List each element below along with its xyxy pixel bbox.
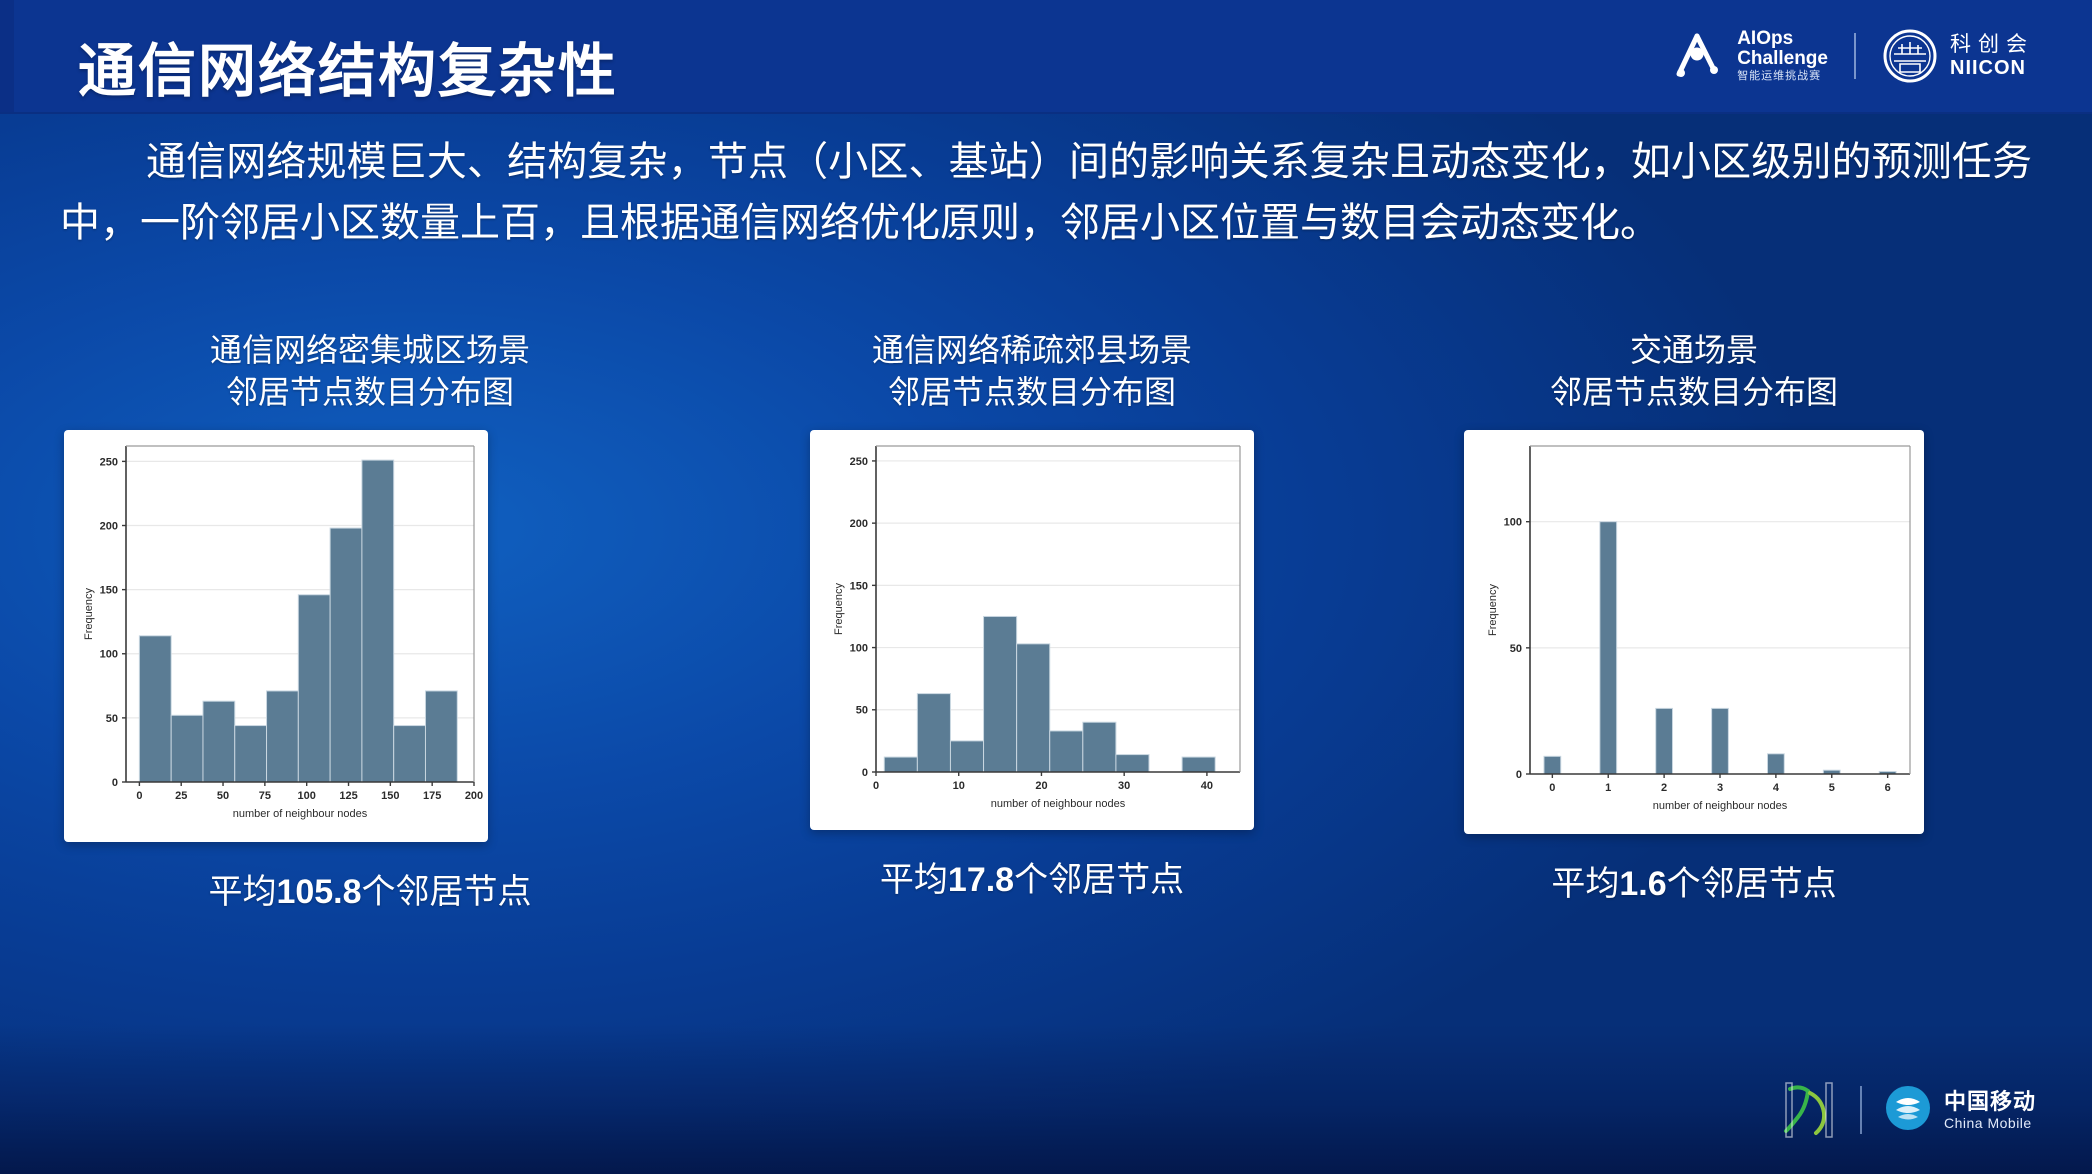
chart-panel-title: 通信网络密集城区场景 邻居节点数目分布图: [60, 330, 680, 418]
histogram-svg-3: 0501000123456number of neighbour nodesFr…: [1464, 430, 1924, 834]
svg-text:75: 75: [259, 790, 271, 802]
logo-divider: [1854, 33, 1856, 79]
header-accent-bar: [0, 0, 14, 112]
svg-text:0: 0: [873, 780, 879, 792]
chart-panel-dense-urban: 通信网络密集城区场景 邻居节点数目分布图 0501001502002500255…: [60, 330, 680, 913]
svg-text:2: 2: [1661, 782, 1667, 794]
chart-card-1: 0501001502002500255075100125150175200num…: [64, 430, 488, 842]
svg-text:30: 30: [1118, 780, 1130, 792]
svg-text:20: 20: [1035, 780, 1047, 792]
svg-text:3: 3: [1717, 782, 1723, 794]
histogram-svg-2: 050100150200250010203040number of neighb…: [810, 430, 1254, 830]
chart-caption-2: 平均17.8个邻居节点: [722, 852, 1342, 901]
caption-suffix: 个邻居节点: [1667, 865, 1837, 903]
body-paragraph: 通信网络规模巨大、结构复杂，节点（小区、基站）间的影响关系复杂且动态变化，如小区…: [60, 132, 2032, 254]
caption-prefix: 平均: [880, 861, 948, 899]
svg-text:0: 0: [136, 790, 142, 802]
svg-text:number of neighbour nodes: number of neighbour nodes: [991, 798, 1126, 810]
svg-text:6: 6: [1885, 782, 1891, 794]
svg-text:100: 100: [100, 649, 118, 661]
svg-text:100: 100: [1504, 517, 1522, 529]
china-mobile-cn: 中国移动: [1944, 1089, 2036, 1114]
aiops-logo-text: AIOps Challenge 智能运维挑战赛: [1737, 29, 1828, 82]
chart-panel-sparse-county: 通信网络稀疏郊县场景 邻居节点数目分布图 0501001502002500102…: [722, 330, 1342, 901]
slide-header: 通信网络结构复杂性 AIOps Challenge 智能运维挑战赛: [0, 0, 2092, 114]
svg-text:50: 50: [217, 790, 229, 802]
chart-caption-3: 平均1.6个邻居节点: [1384, 856, 2004, 905]
header-logo-group: AIOps Challenge 智能运维挑战赛: [1673, 22, 2034, 90]
aiops-challenge-logo: AIOps Challenge 智能运维挑战赛: [1673, 29, 1828, 82]
chart-panels: 通信网络密集城区场景 邻居节点数目分布图 0501001502002500255…: [0, 330, 2092, 1050]
china-mobile-text: 中国移动 China Mobile: [1944, 1089, 2036, 1130]
chart-panel-title: 通信网络稀疏郊县场景 邻居节点数目分布图: [722, 330, 1342, 418]
svg-text:25: 25: [175, 790, 187, 802]
china-mobile-icon: [1884, 1084, 1932, 1137]
caption-prefix: 平均: [208, 873, 276, 911]
svg-text:50: 50: [106, 713, 118, 725]
chart-title-line2: 邻居节点数目分布图: [1384, 372, 2004, 414]
china-mobile-logo: 中国移动 China Mobile: [1884, 1084, 2036, 1137]
svg-text:4: 4: [1773, 782, 1780, 794]
niicon-seal-icon: [1882, 28, 1938, 84]
caption-suffix: 个邻居节点: [362, 873, 532, 911]
svg-text:50: 50: [1510, 643, 1522, 655]
caption-suffix: 个邻居节点: [1014, 861, 1184, 899]
svg-text:number of neighbour nodes: number of neighbour nodes: [233, 808, 368, 820]
svg-text:10: 10: [953, 780, 965, 792]
svg-text:50: 50: [856, 705, 868, 717]
svg-text:175: 175: [423, 790, 441, 802]
page-title: 通信网络结构复杂性: [78, 24, 618, 108]
caption-value: 17.8: [948, 861, 1014, 899]
chart-title-line1: 通信网络密集城区场景: [60, 330, 680, 372]
svg-text:250: 250: [850, 456, 868, 468]
svg-text:5: 5: [1829, 782, 1835, 794]
chart-caption-1: 平均105.8个邻居节点: [60, 864, 680, 913]
histogram-figure-1: 0501001502002500255075100125150175200num…: [64, 430, 488, 842]
aiops-logo-line2: Challenge: [1737, 49, 1828, 69]
svg-text:200: 200: [850, 518, 868, 530]
svg-text:200: 200: [100, 520, 118, 532]
svg-text:Frequency: Frequency: [833, 583, 845, 635]
footer-logo-group: 中国移动 China Mobile: [1780, 1072, 2036, 1148]
aiops-logo-line3: 智能运维挑战赛: [1737, 71, 1828, 83]
svg-text:0: 0: [112, 777, 118, 789]
footer-divider: [1860, 1086, 1862, 1134]
caption-value: 105.8: [276, 873, 361, 911]
chart-title-line1: 通信网络稀疏郊县场景: [722, 330, 1342, 372]
chart-panel-title: 交通场景 邻居节点数目分布图: [1384, 330, 2004, 418]
histogram-figure-2: 050100150200250010203040number of neighb…: [810, 430, 1254, 830]
svg-text:250: 250: [100, 456, 118, 468]
svg-text:number of neighbour nodes: number of neighbour nodes: [1653, 800, 1788, 812]
svg-text:100: 100: [850, 643, 868, 655]
green-calligraphy-icon: [1780, 1079, 1838, 1141]
svg-text:150: 150: [850, 580, 868, 592]
niicon-logo-cn: 科创会: [1950, 33, 2034, 56]
chart-title-line2: 邻居节点数目分布图: [60, 372, 680, 414]
svg-text:150: 150: [100, 585, 118, 597]
niicon-logo-text: 科创会 NIICON: [1950, 33, 2034, 78]
svg-text:100: 100: [298, 790, 316, 802]
slide-root: 通信网络结构复杂性 AIOps Challenge 智能运维挑战赛: [0, 0, 2092, 1174]
chart-title-line1: 交通场景: [1384, 330, 2004, 372]
svg-text:0: 0: [1549, 782, 1555, 794]
svg-text:Frequency: Frequency: [1487, 584, 1499, 636]
svg-text:1: 1: [1605, 782, 1611, 794]
histogram-figure-3: 0501000123456number of neighbour nodesFr…: [1464, 430, 1924, 834]
svg-text:0: 0: [1516, 769, 1522, 781]
svg-text:Frequency: Frequency: [83, 588, 95, 640]
svg-text:150: 150: [381, 790, 399, 802]
chart-panel-traffic: 交通场景 邻居节点数目分布图 0501000123456number of ne…: [1384, 330, 2004, 905]
niicon-logo: 科创会 NIICON: [1882, 28, 2034, 84]
caption-prefix: 平均: [1551, 865, 1619, 903]
caption-value: 1.6: [1619, 865, 1666, 903]
histogram-svg-1: 0501001502002500255075100125150175200num…: [64, 430, 488, 842]
svg-text:125: 125: [339, 790, 357, 802]
svg-text:0: 0: [862, 767, 868, 779]
niicon-logo-en: NIICON: [1950, 57, 2034, 79]
aiops-logo-line1: AIOps: [1737, 29, 1828, 49]
chart-card-3: 0501000123456number of neighbour nodesFr…: [1464, 430, 1924, 834]
aiops-triangle-icon: [1673, 30, 1725, 82]
svg-text:200: 200: [465, 790, 483, 802]
chart-card-2: 050100150200250010203040number of neighb…: [810, 430, 1254, 830]
chart-title-line2: 邻居节点数目分布图: [722, 372, 1342, 414]
svg-text:40: 40: [1201, 780, 1213, 792]
china-mobile-en: China Mobile: [1944, 1115, 2036, 1131]
